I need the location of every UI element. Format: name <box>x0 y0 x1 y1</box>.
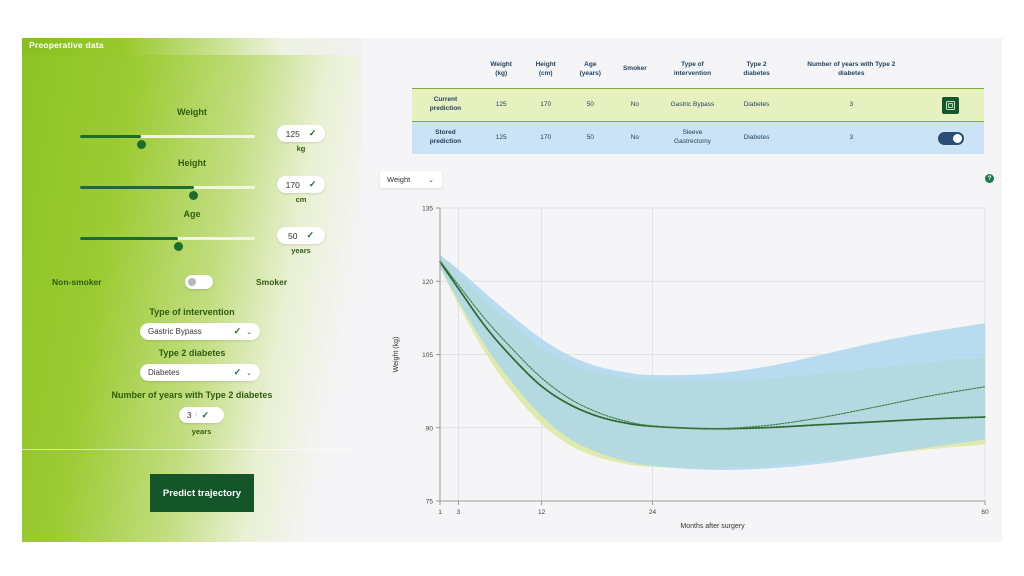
metric-select-value: Weight <box>387 175 428 184</box>
store-prediction-button[interactable] <box>942 97 959 114</box>
age-slider-track[interactable] <box>80 237 255 240</box>
table-header-row: Weight(kg) Height(cm) Age(years) Smoker … <box>412 51 984 88</box>
diabetes-label: Type 2 diabetes <box>22 348 362 358</box>
svg-text:Weight (kg): Weight (kg) <box>393 337 400 373</box>
row-label-current: Currentprediction <box>412 96 479 114</box>
years-label: Number of years with Type 2 diabetes <box>22 390 362 400</box>
svg-text:1: 1 <box>438 509 442 516</box>
trajectory-chart: 759010512013513122460Months after surger… <box>380 196 995 536</box>
age-label: Age <box>22 209 362 219</box>
cell-smoker: No <box>613 134 658 143</box>
height-slider-fill <box>80 186 194 189</box>
svg-text:135: 135 <box>422 206 433 213</box>
toggle-knob-icon <box>953 134 962 143</box>
table-row[interactable]: Storedprediction 125 170 50 No SleeveGas… <box>412 122 984 154</box>
table-header-height: Height(cm) <box>523 61 568 79</box>
years-unit: years <box>179 427 224 436</box>
check-icon: ✓ <box>201 410 209 421</box>
svg-text:12: 12 <box>538 509 546 516</box>
cell-years: 3 <box>785 101 917 110</box>
intervention-select[interactable]: Gastric Bypass ✓ ⌄ <box>140 323 260 340</box>
stepper-arrows-icon[interactable]: ↕ <box>194 412 197 418</box>
check-icon: ✓ <box>309 128 317 139</box>
height-value: 170 <box>286 180 300 190</box>
cell-weight: 125 <box>479 101 524 110</box>
cell-height: 170 <box>523 134 568 143</box>
svg-text:60: 60 <box>981 509 989 516</box>
svg-text:3: 3 <box>457 509 461 516</box>
panel-title-bar: Preoperative data <box>22 38 362 55</box>
weight-slider-fill <box>80 135 141 138</box>
years-value: 3 <box>187 411 191 420</box>
weight-label: Weight <box>22 107 362 117</box>
height-unit: cm <box>277 195 325 204</box>
svg-text:24: 24 <box>649 509 657 516</box>
diabetes-select[interactable]: Diabetes ✓ ⌄ <box>140 364 260 381</box>
cell-weight: 125 <box>479 134 524 143</box>
smoker-toggle[interactable] <box>185 275 213 289</box>
weight-value: 125 <box>286 129 300 139</box>
table-header-diabetes: Type 2diabetes <box>728 61 786 79</box>
table-header-years: Number of years with Type 2diabetes <box>785 61 917 79</box>
predict-trajectory-button[interactable]: Predict trajectory <box>150 474 254 512</box>
cell-diabetes: Diabetes <box>728 101 786 110</box>
weight-slider-track[interactable] <box>80 135 255 138</box>
cell-intervention: SleeveGastrectomy <box>657 129 728 147</box>
age-unit: years <box>277 246 325 255</box>
non-smoker-label: Non-smoker <box>52 277 102 287</box>
intervention-value: Gastric Bypass <box>148 327 234 336</box>
age-value-field[interactable]: 50 ✓ <box>277 227 325 244</box>
panel-title: Preoperative data <box>29 40 104 50</box>
table-header-weight: Weight(kg) <box>479 61 524 79</box>
preoperative-data-panel: Preoperative data Weight 125 ✓ kg Height… <box>22 38 362 542</box>
cell-age: 50 <box>568 101 613 110</box>
help-icon[interactable]: ? <box>985 174 994 183</box>
check-icon: ✓ <box>234 367 242 378</box>
application-window: Preoperative data Weight 125 ✓ kg Height… <box>22 38 1002 542</box>
age-slider-fill <box>80 237 178 240</box>
cell-diabetes: Diabetes <box>728 134 786 143</box>
years-stepper[interactable]: 3 ↕ ✓ <box>179 407 224 423</box>
cell-intervention: Gastric Bypass <box>657 101 728 110</box>
svg-text:90: 90 <box>426 425 434 432</box>
cell-smoker: No <box>613 101 658 110</box>
age-slider-knob[interactable] <box>174 242 183 251</box>
chevron-down-icon[interactable]: ⌄ <box>246 369 252 377</box>
height-label: Height <box>22 158 362 168</box>
table-header-intervention: Type ofintervention <box>657 61 728 79</box>
smoker-row: Non-smoker Smoker <box>22 274 362 294</box>
cell-age: 50 <box>568 134 613 143</box>
weight-unit: kg <box>277 144 325 153</box>
save-icon <box>945 100 956 111</box>
height-value-field[interactable]: 170 ✓ <box>277 176 325 193</box>
table-header-smoker: Smoker <box>613 65 658 74</box>
check-icon: ✓ <box>234 326 242 337</box>
intervention-label: Type of intervention <box>22 307 362 317</box>
table-row[interactable]: Currentprediction 125 170 50 No Gastric … <box>412 88 984 122</box>
weight-slider-knob[interactable] <box>137 140 146 149</box>
row-action-cell <box>917 132 984 145</box>
weight-value-field[interactable]: 125 ✓ <box>277 125 325 142</box>
row-action-cell <box>917 97 984 114</box>
stored-prediction-visibility-toggle[interactable] <box>938 132 964 145</box>
check-icon: ✓ <box>309 179 317 190</box>
prediction-table: Weight(kg) Height(cm) Age(years) Smoker … <box>412 51 984 154</box>
chevron-down-icon[interactable]: ⌄ <box>246 328 252 336</box>
height-slider-track[interactable] <box>80 186 255 189</box>
panel-divider <box>22 449 352 450</box>
diabetes-value: Diabetes <box>148 368 234 377</box>
height-slider-knob[interactable] <box>189 191 198 200</box>
check-icon: ✓ <box>306 230 314 241</box>
metric-select[interactable]: Weight ⌄ <box>380 171 442 188</box>
smoker-label: Smoker <box>256 277 287 287</box>
svg-text:105: 105 <box>422 352 433 359</box>
row-label-stored: Storedprediction <box>412 129 479 147</box>
cell-height: 170 <box>523 101 568 110</box>
svg-text:120: 120 <box>422 279 433 286</box>
chevron-down-icon: ⌄ <box>428 176 434 184</box>
age-value: 50 <box>288 231 297 241</box>
chart-svg: 759010512013513122460Months after surger… <box>380 196 995 536</box>
table-header-age: Age(years) <box>568 61 613 79</box>
cell-years: 3 <box>785 134 917 143</box>
svg-text:Months after surgery: Months after surgery <box>680 523 745 530</box>
toggle-knob-icon <box>188 278 196 286</box>
svg-text:75: 75 <box>426 499 434 506</box>
